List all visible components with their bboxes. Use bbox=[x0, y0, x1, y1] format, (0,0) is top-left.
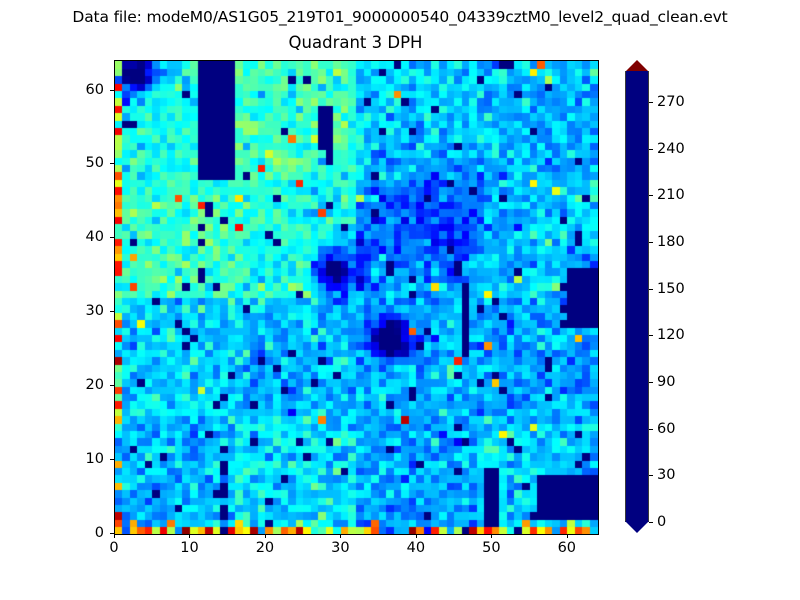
colorbar-tick-mark bbox=[649, 522, 653, 523]
x-tick-mark bbox=[340, 534, 341, 538]
x-tick-label: 60 bbox=[558, 540, 576, 556]
y-tick-mark bbox=[110, 385, 114, 386]
colorbar-under-arrow bbox=[625, 521, 649, 533]
colorbar-tick-label: 240 bbox=[657, 141, 685, 157]
x-tick-label: 20 bbox=[256, 540, 274, 556]
colorbar-tick-label: 60 bbox=[657, 421, 675, 437]
colorbar-tick-label: 0 bbox=[657, 514, 666, 530]
y-tick-label: 20 bbox=[72, 377, 104, 393]
y-tick-label: 40 bbox=[72, 229, 104, 245]
y-tick-label: 50 bbox=[72, 155, 104, 171]
chart-title: Quadrant 3 DPH bbox=[114, 33, 597, 52]
colorbar-tick-label: 30 bbox=[657, 467, 675, 483]
figure-canvas: Data file: modeM0/AS1G05_219T01_90000005… bbox=[0, 0, 800, 600]
x-tick-label: 10 bbox=[180, 540, 198, 556]
y-tick-mark bbox=[110, 163, 114, 164]
y-tick-label: 10 bbox=[72, 451, 104, 467]
colorbar-tick-mark bbox=[649, 289, 653, 290]
y-tick-mark bbox=[110, 90, 114, 91]
colorbar-tick-label: 210 bbox=[657, 187, 685, 203]
y-tick-label: 30 bbox=[72, 303, 104, 319]
y-tick-label: 0 bbox=[72, 525, 104, 541]
x-tick-mark bbox=[416, 534, 417, 538]
colorbar-tick-mark bbox=[649, 149, 653, 150]
colorbar-tick-label: 90 bbox=[657, 374, 675, 390]
colorbar bbox=[625, 60, 649, 533]
heatmap-image bbox=[115, 61, 598, 534]
colorbar-tick-label: 150 bbox=[657, 281, 685, 297]
y-tick-label: 60 bbox=[72, 82, 104, 98]
x-tick-mark bbox=[265, 534, 266, 538]
colorbar-tick-mark bbox=[649, 242, 653, 243]
colorbar-tick-mark bbox=[649, 102, 653, 103]
colorbar-gradient bbox=[625, 71, 649, 522]
colorbar-tick-label: 180 bbox=[657, 234, 685, 250]
colorbar-tick-mark bbox=[649, 382, 653, 383]
data-file-label: Data file: modeM0/AS1G05_219T01_90000005… bbox=[0, 8, 800, 26]
y-tick-mark bbox=[110, 311, 114, 312]
x-tick-mark bbox=[189, 534, 190, 538]
x-tick-label: 0 bbox=[109, 540, 118, 556]
colorbar-tick-label: 120 bbox=[657, 327, 685, 343]
x-tick-label: 40 bbox=[407, 540, 425, 556]
y-tick-mark bbox=[110, 459, 114, 460]
x-tick-label: 50 bbox=[482, 540, 500, 556]
colorbar-tick-mark bbox=[649, 335, 653, 336]
colorbar-tick-mark bbox=[649, 195, 653, 196]
colorbar-tick-mark bbox=[649, 475, 653, 476]
y-tick-mark bbox=[110, 533, 114, 534]
colorbar-tick-label: 270 bbox=[657, 94, 685, 110]
heatmap-axes bbox=[114, 60, 599, 535]
x-tick-mark bbox=[114, 534, 115, 538]
colorbar-tick-mark bbox=[649, 429, 653, 430]
x-tick-mark bbox=[491, 534, 492, 538]
x-tick-label: 30 bbox=[331, 540, 349, 556]
y-tick-mark bbox=[110, 237, 114, 238]
x-tick-mark bbox=[567, 534, 568, 538]
